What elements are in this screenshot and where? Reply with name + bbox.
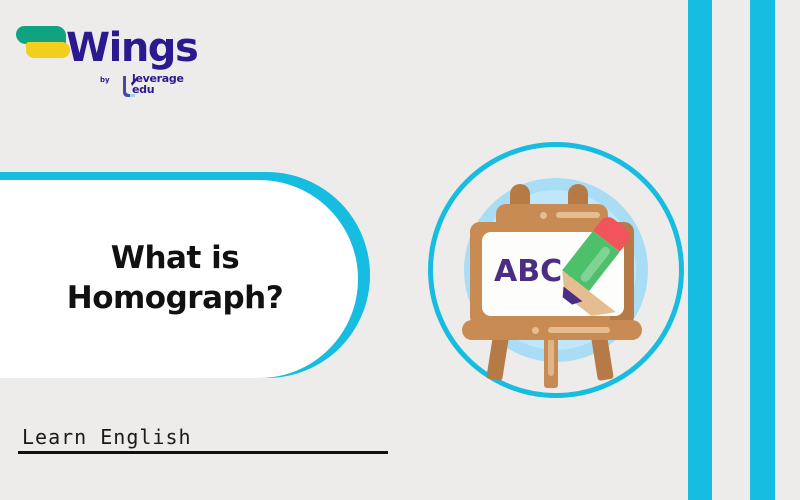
slide-canvas: Wings by leverage edu What is Homograph?… [0, 0, 800, 500]
headline-card: What is Homograph? [0, 180, 358, 378]
category-label: Learn English [22, 425, 192, 449]
wing-bottom-icon [26, 42, 70, 58]
easel-tray-dot [532, 327, 539, 334]
logo-by-label: by [100, 76, 110, 84]
logo-wordmark: Wings [66, 28, 197, 68]
easel-top-clip-highlight [556, 212, 600, 218]
easel-tray-highlight [548, 327, 610, 333]
decor-bar-left [688, 0, 712, 500]
illustration-easel: ABC.. [428, 142, 684, 398]
page-title: What is Homograph? [45, 239, 283, 318]
wings-logo[interactable]: Wings by leverage edu [14, 18, 194, 108]
easel-top-clip-dot [540, 212, 547, 219]
logo-sub-brand: leverage edu [132, 73, 184, 95]
footer-divider [18, 451, 388, 454]
decor-bar-right [750, 0, 775, 500]
easel-leg-middle-highlight [548, 338, 554, 376]
